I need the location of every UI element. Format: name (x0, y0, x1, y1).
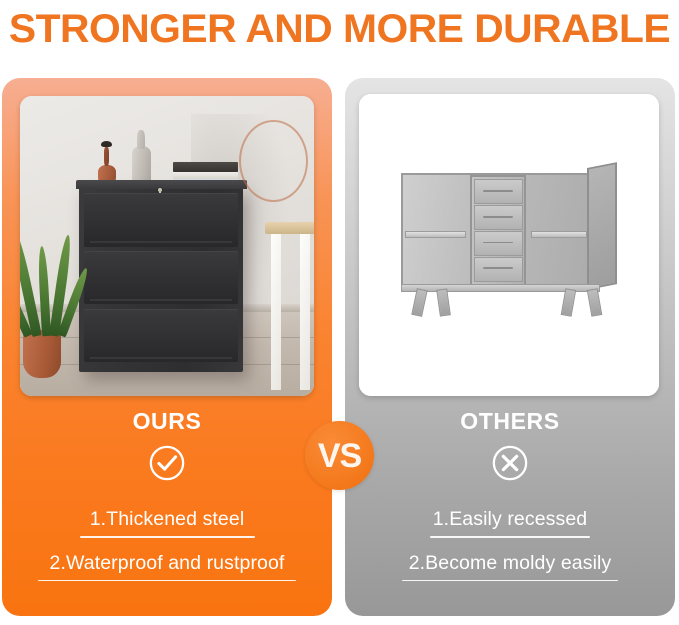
comparison-infographic: STRONGER AND MORE DURABLE (0, 0, 679, 625)
decor-side-table (267, 222, 314, 390)
feature-text: 2.Become moldy easily (409, 552, 612, 575)
sideboard-drawer-column (470, 175, 526, 287)
others-feature-list: 1.Easily recessed 2.Become moldy easily (345, 508, 675, 595)
feature-underline (80, 536, 255, 538)
others-product-photo (359, 94, 659, 396)
cabinet-drawer (84, 193, 239, 246)
ours-label: OURS (2, 408, 332, 435)
others-label: OTHERS (345, 408, 675, 435)
vs-badge-icon: VS (305, 421, 374, 490)
feature-item: 1.Thickened steel (2, 508, 332, 538)
sideboard-shelf (531, 231, 587, 238)
decor-plant-pot (23, 330, 61, 378)
sideboard-shelf (405, 231, 465, 238)
metal-filing-cabinet (79, 186, 244, 372)
check-circle-icon (148, 444, 186, 482)
sideboard-drawer (474, 179, 523, 204)
feature-item: 1.Easily recessed (345, 508, 675, 538)
sideboard-drawer (474, 231, 523, 256)
feature-text: 1.Thickened steel (90, 508, 245, 531)
cabinet-drawer (84, 251, 239, 304)
sideboard-drawer (474, 257, 523, 282)
panel-others: OTHERS 1.Easily recessed 2.Become moldy … (345, 78, 675, 616)
feature-text: 1.Easily recessed (433, 508, 588, 531)
x-circle-icon (491, 444, 529, 482)
panel-ours: OURS 1.Thickened steel 2.Waterproof and … (2, 78, 332, 616)
decor-wall-ring (239, 120, 308, 202)
sideboard-side-panel (587, 162, 617, 290)
sideboard-drawer (474, 205, 523, 230)
feature-item: 2.Become moldy easily (345, 552, 675, 582)
ours-feature-list: 1.Thickened steel 2.Waterproof and rustp… (2, 508, 332, 595)
feature-underline (402, 580, 618, 582)
feature-underline (38, 580, 296, 582)
cabinet-drawer (84, 309, 239, 362)
feature-item: 2.Waterproof and rustproof (2, 552, 332, 582)
feature-text: 2.Waterproof and rustproof (50, 552, 285, 575)
vs-label: VS (318, 439, 361, 473)
wooden-sideboard (401, 173, 617, 306)
ours-photo-frame (20, 96, 314, 396)
others-photo-frame (359, 94, 659, 396)
panel-separator (332, 0, 345, 625)
feature-underline (430, 536, 590, 538)
ours-product-photo (20, 96, 314, 396)
